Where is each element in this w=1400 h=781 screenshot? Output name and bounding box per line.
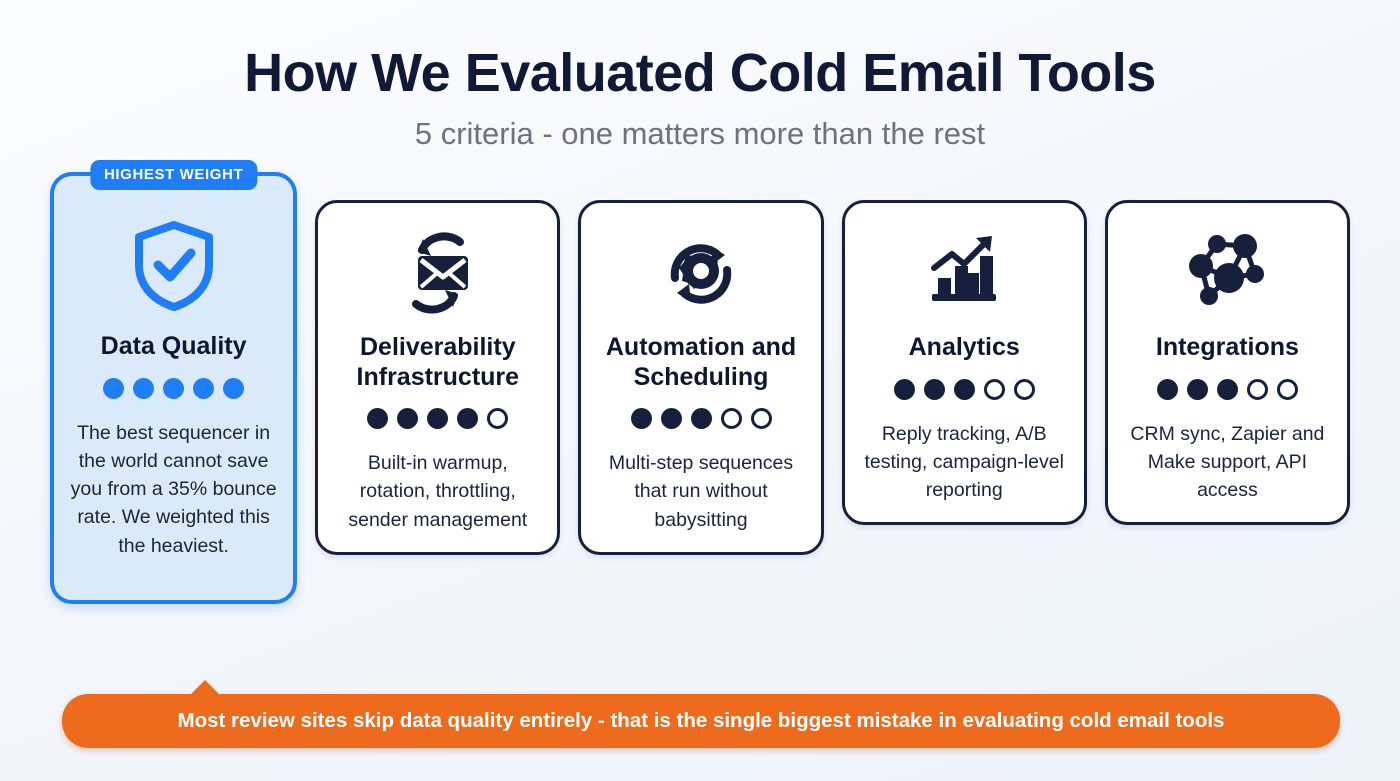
rating-dot-filled [457,408,478,429]
card-description: Multi-step sequences that run without ba… [595,449,806,534]
rating-dots [1157,379,1298,400]
card-description: CRM sync, Zapier and Make support, API a… [1122,420,1333,505]
card-description: Built-in warmup, rotation, throttling, s… [332,449,543,534]
rating-dot-empty [721,408,742,429]
rating-dot-filled [367,408,388,429]
rating-dot-empty [1247,379,1268,400]
rating-dot-filled [894,379,915,400]
rating-dots [367,408,508,429]
card-description: The best sequencer in the world cannot s… [68,419,279,560]
shield-check-icon [131,218,217,314]
bar-chart-growth-icon [918,225,1010,321]
banner-pointer-arrow [190,680,220,695]
card-description: Reply tracking, A/B testing, campaign-le… [859,420,1070,505]
rating-dot-filled [193,378,214,399]
criteria-card-row: HIGHEST WEIGHT Data Quality The best seq… [50,200,1350,604]
criteria-card-data-quality[interactable]: HIGHEST WEIGHT Data Quality The best seq… [50,172,297,604]
rating-dot-filled [631,408,652,429]
gear-refresh-icon [655,225,747,321]
rating-dots [103,378,244,399]
rating-dot-empty [487,408,508,429]
card-title: Data Quality [101,332,247,362]
email-sync-icon [392,225,484,321]
rating-dot-filled [1157,379,1178,400]
rating-dot-filled [223,378,244,399]
rating-dot-empty [1014,379,1035,400]
page-subtitle: 5 criteria - one matters more than the r… [0,116,1400,152]
rating-dot-filled [924,379,945,400]
rating-dot-filled [954,379,975,400]
rating-dot-filled [397,408,418,429]
rating-dot-empty [1277,379,1298,400]
rating-dot-filled [1187,379,1208,400]
card-title: Deliverability Infrastructure [332,333,543,392]
criteria-card-deliverability-infrastructure[interactable]: Deliverability Infrastructure Built-in w… [315,200,560,555]
rating-dots [894,379,1035,400]
rating-dot-filled [163,378,184,399]
page-header: How We Evaluated Cold Email Tools 5 crit… [0,0,1400,152]
rating-dot-filled [133,378,154,399]
criteria-card-integrations[interactable]: Integrations CRM sync, Zapier and Make s… [1105,200,1350,525]
card-title: Automation and Scheduling [595,333,806,392]
page-title: How We Evaluated Cold Email Tools [0,44,1400,102]
rating-dots [631,408,772,429]
rating-dot-filled [427,408,448,429]
rating-dot-empty [751,408,772,429]
rating-dot-filled [691,408,712,429]
key-takeaway-banner: Most review sites skip data quality enti… [62,694,1340,748]
rating-dot-empty [984,379,1005,400]
network-nodes-icon [1181,225,1273,321]
banner-text: Most review sites skip data quality enti… [178,709,1225,732]
rating-dot-filled [103,378,124,399]
highest-weight-badge: HIGHEST WEIGHT [90,160,257,190]
card-title: Integrations [1156,333,1299,363]
criteria-card-analytics[interactable]: Analytics Reply tracking, A/B testing, c… [842,200,1087,525]
rating-dot-filled [661,408,682,429]
criteria-card-automation-and-scheduling[interactable]: Automation and Scheduling Multi-step seq… [578,200,823,555]
card-title: Analytics [909,333,1020,363]
bottom-banner-zone: Most review sites skip data quality enti… [62,694,1340,748]
rating-dot-filled [1217,379,1238,400]
